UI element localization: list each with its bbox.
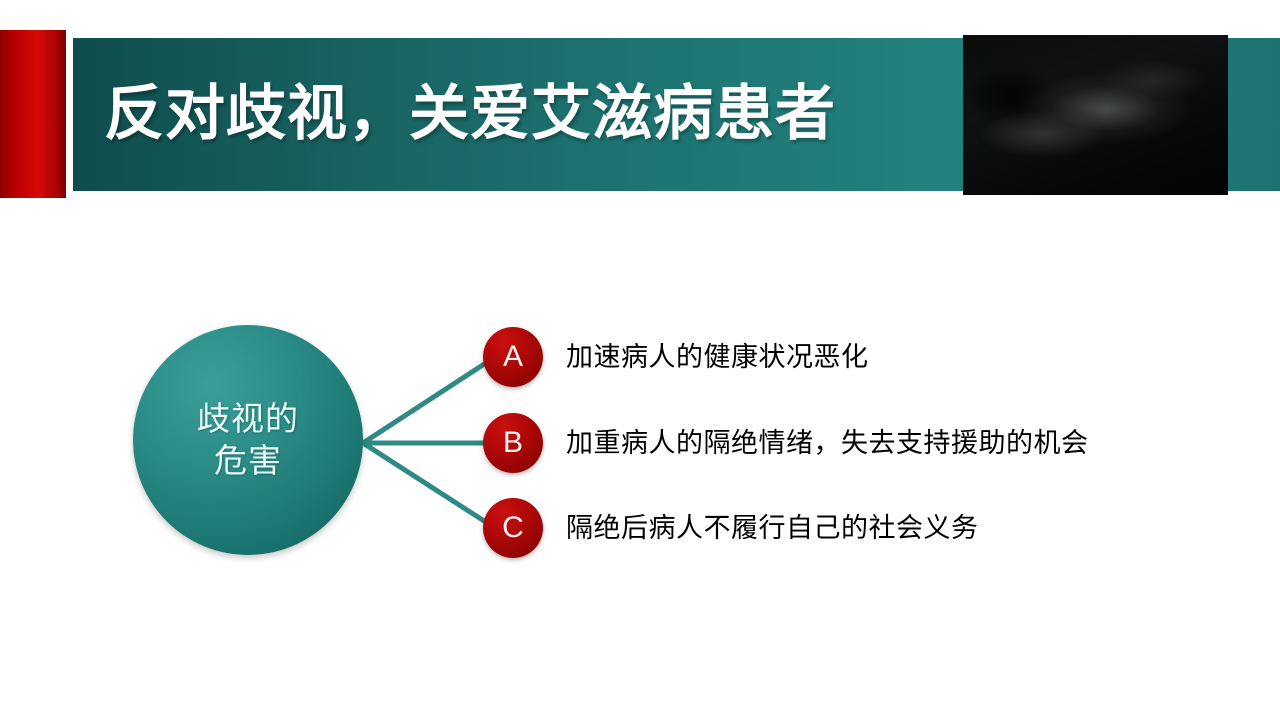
- bullet-text-a: 加速病人的健康状况恶化: [566, 327, 869, 387]
- bullet-badge-a: A: [483, 327, 543, 387]
- bullet-badge-b: B: [483, 413, 543, 473]
- bullet-text-b: 加重病人的隔绝情绪，失去支持援助的机会: [566, 413, 1089, 473]
- hub-circle[interactable]: 歧视的 危害: [133, 325, 363, 555]
- diagram-area: 歧视的 危害 A 加速病人的健康状况恶化 B 加重病人的隔绝情绪，失去支持援助的…: [0, 210, 1280, 720]
- bullet-text-c: 隔绝后病人不履行自己的社会义务: [566, 498, 979, 558]
- hub-label: 歧视的 危害: [133, 325, 363, 555]
- connector-line-a: [363, 357, 495, 443]
- hub-label-line-2: 危害: [214, 440, 282, 482]
- slide-header: 反对歧视，关爱艾滋病患者: [0, 0, 1280, 210]
- bullet-badge-c: C: [483, 498, 543, 558]
- header-red-accent-block: [0, 30, 66, 198]
- hub-label-line-1: 歧视的: [197, 398, 299, 440]
- page-title: 反对歧视，关爱艾滋病患者: [104, 68, 944, 160]
- header-photo-image: [963, 35, 1228, 195]
- connector-line-c: [363, 443, 495, 528]
